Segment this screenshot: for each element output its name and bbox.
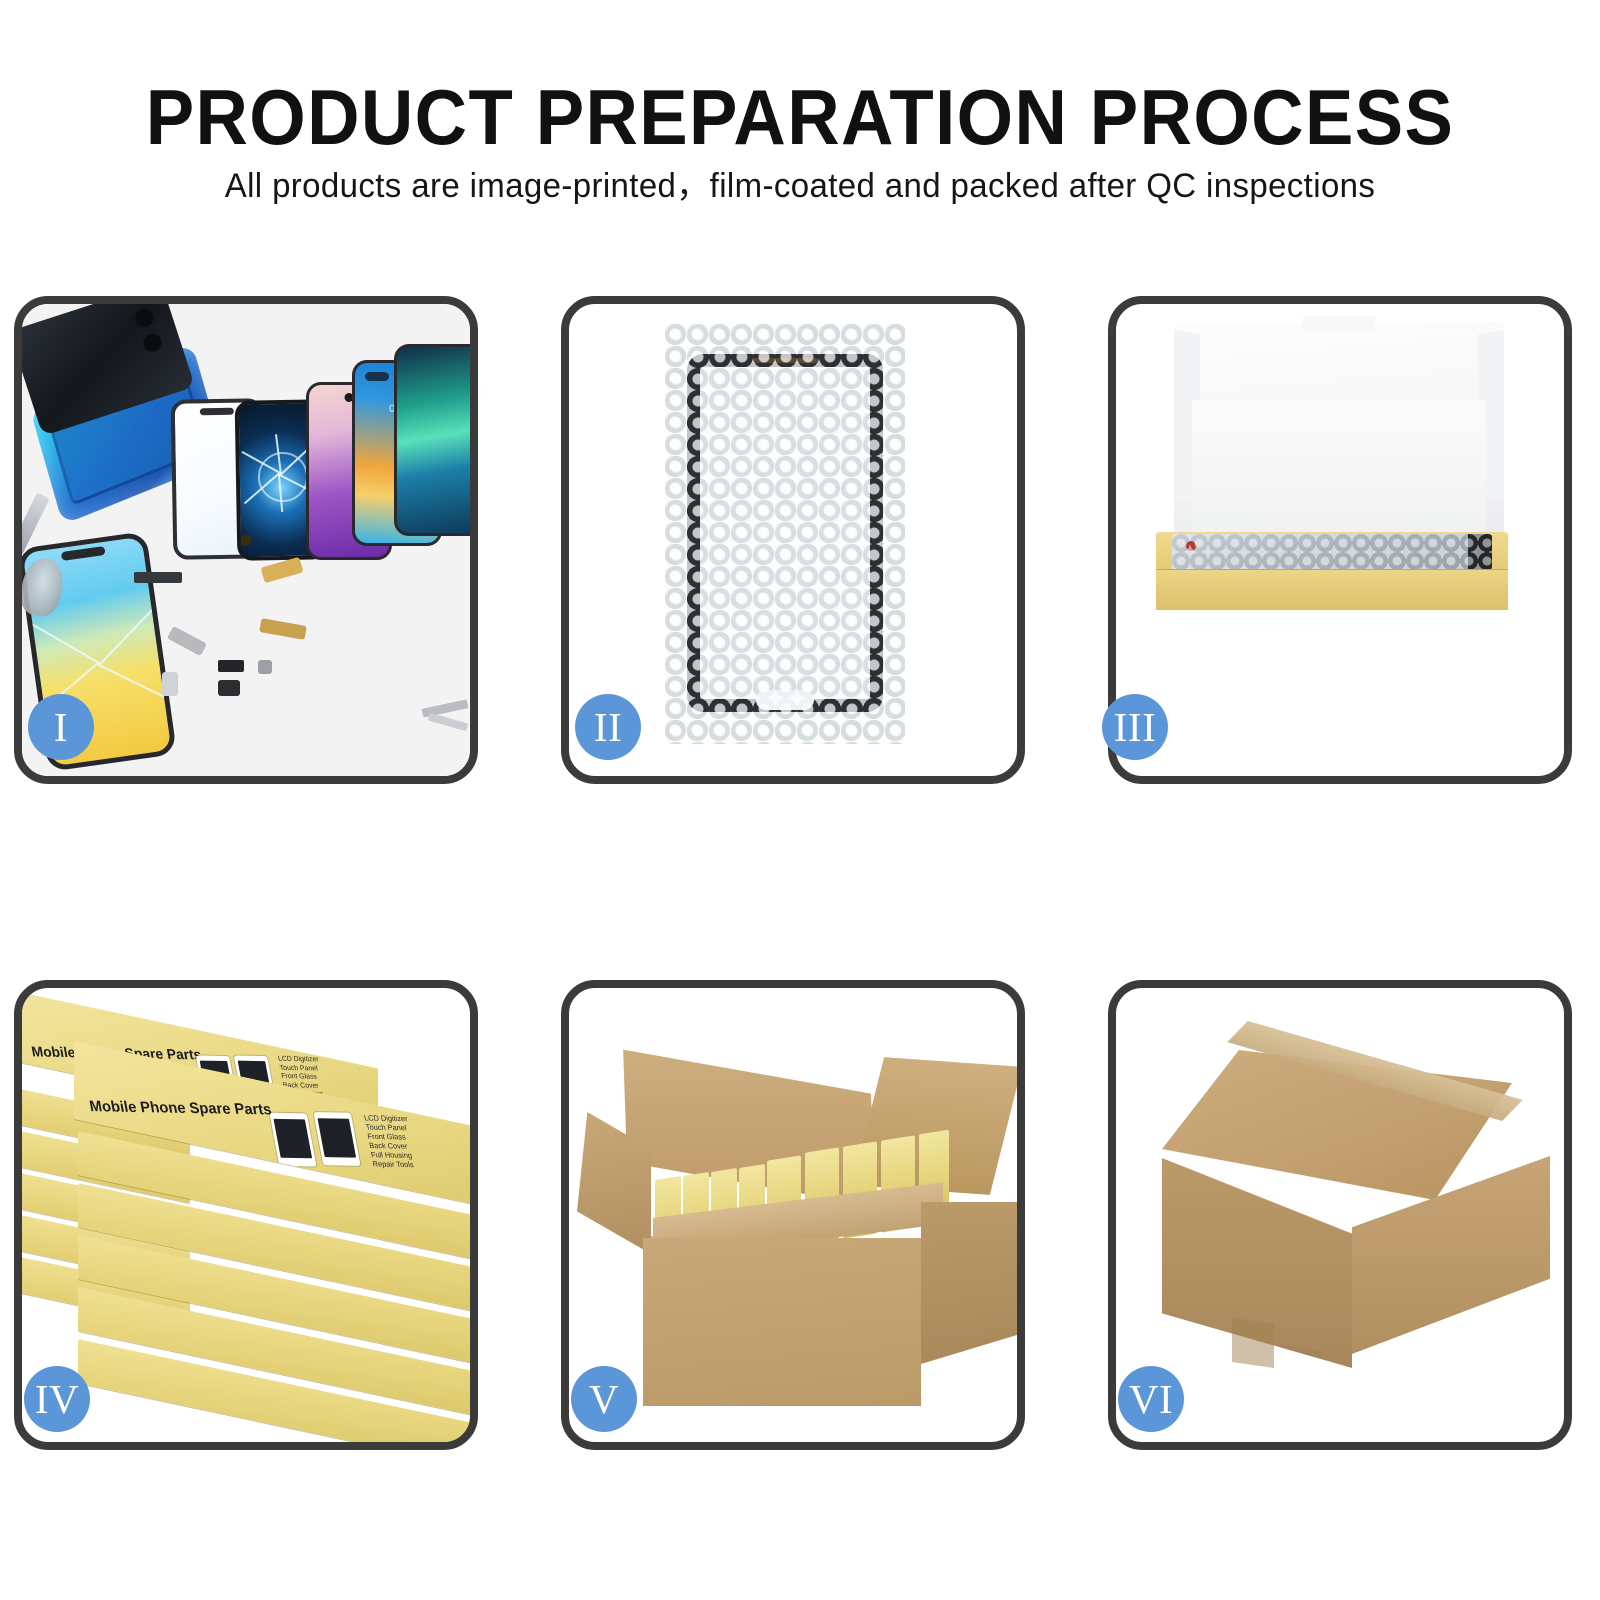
step-card-3 xyxy=(1108,296,1572,784)
box-brand-label: Mobile Phone Spare Parts xyxy=(88,1098,273,1119)
step-5-image xyxy=(569,988,1017,1442)
carton-front-face xyxy=(643,1238,921,1406)
step-badge-4: IV xyxy=(24,1366,90,1432)
step-badge-6: VI xyxy=(1118,1366,1184,1432)
vibrator-motor-part xyxy=(218,680,240,696)
screw-set-part xyxy=(258,660,272,674)
volume-button-part xyxy=(218,660,244,672)
notch-cutout xyxy=(61,546,106,561)
box-front-face xyxy=(1156,569,1508,610)
step-badge-5: V xyxy=(571,1366,637,1432)
kraft-inner-box xyxy=(1156,532,1508,610)
page-title: PRODUCT PREPARATION PROCESS xyxy=(56,78,1544,156)
step-badge-3: III xyxy=(1102,694,1168,760)
carton-tab xyxy=(1280,1344,1322,1398)
lid-tab xyxy=(1303,316,1375,332)
step-1-image: 08:08 xyxy=(22,304,470,776)
step-3-image xyxy=(1116,304,1564,776)
screen-dark-edge xyxy=(1468,534,1492,570)
page-subtitle: All products are image-printed，film-coat… xyxy=(24,168,1576,204)
sim-tray-part xyxy=(162,672,178,696)
earpiece-speaker-part xyxy=(134,572,182,583)
checklist-item: Repair Tools xyxy=(372,1159,415,1169)
header: PRODUCT PREPARATION PROCESS All products… xyxy=(0,0,1600,250)
red-label-dot xyxy=(1186,541,1196,551)
wrapped-screen-in-box xyxy=(1172,534,1492,570)
crack-line xyxy=(22,616,100,664)
step-badge-2: II xyxy=(575,694,641,760)
notch-cutout xyxy=(200,408,234,416)
pill-camera-cutout xyxy=(365,372,389,381)
foam-insert xyxy=(1192,400,1486,550)
home-button-cutout xyxy=(756,690,814,710)
carton-tab xyxy=(1232,1318,1274,1368)
bubble-wrap-sheet xyxy=(665,324,905,744)
wrapped-phone-screen xyxy=(687,354,883,712)
checklist-item: Touch Panel xyxy=(279,1064,318,1072)
white-foam-lid xyxy=(1174,322,1504,550)
step-2-image xyxy=(569,304,1017,776)
step-6-image xyxy=(1116,988,1564,1442)
checklist-item: LCD Digitizer xyxy=(278,1056,320,1064)
checklist-item: Front Glass xyxy=(281,1073,318,1081)
step-badge-1: I xyxy=(28,694,94,760)
camera-module xyxy=(133,307,156,330)
carton-side-face xyxy=(921,1202,1017,1364)
crack-ring xyxy=(258,452,309,503)
step-4-image: Mobile Phone Spare Parts LCD Digitizer T… xyxy=(22,988,470,1442)
teal-gradient-phone xyxy=(394,344,470,536)
